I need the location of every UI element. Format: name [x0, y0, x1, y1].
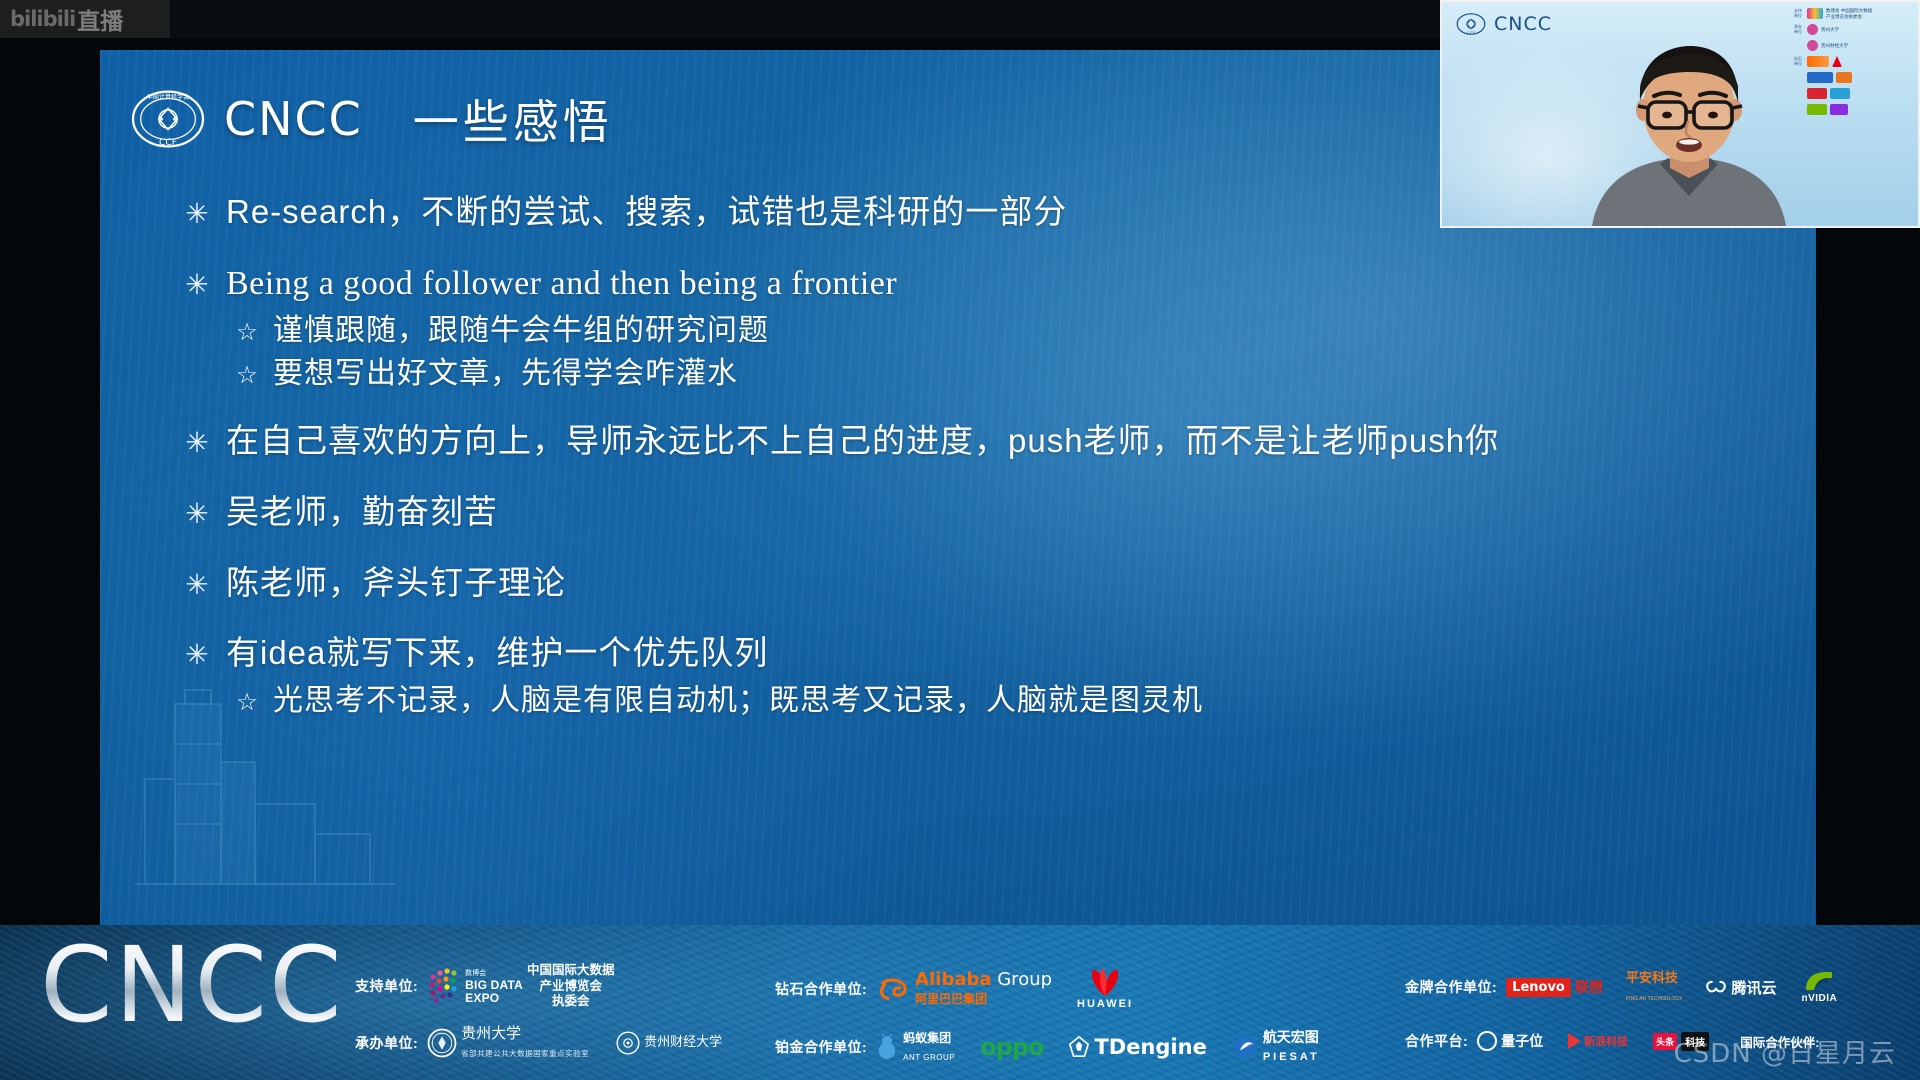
backdrop-sponsor-text: 数博会 中国国际大数据产业博览会执委会	[1826, 8, 1872, 18]
svg-text:中国计算机学会: 中国计算机学会	[147, 93, 190, 101]
sponsor-group-label: 金牌合作单位:	[1405, 977, 1497, 997]
ant-group-logo-icon	[876, 1034, 898, 1060]
nvidia-logo-icon	[1807, 104, 1827, 115]
bullet-item: ✳ 有idea就写下来，维护一个优先队列	[182, 631, 1776, 676]
bilibili-logo: bilibili	[10, 7, 75, 31]
pingan-sub: PING AN TECHNOLOGY	[1626, 996, 1683, 1002]
big-data-expo-cn: 中国国际大数据产业博览会执委会	[527, 963, 615, 1010]
pingan-cn: 平安科技	[1626, 970, 1678, 985]
sub-bullet-text: 谨慎跟随，跟随牛会牛组的研究问题	[273, 311, 769, 350]
bullet-text: Being a good follower and then being a f…	[226, 261, 897, 307]
backdrop-sponsor-row	[1794, 72, 1914, 83]
backdrop-sponsor-row: 承办单位 贵州大学	[1794, 24, 1914, 35]
international-partner-label: 国际合作伙伴:	[1740, 1032, 1819, 1051]
sponsor-group-label: 钻石合作单位:	[775, 979, 867, 999]
svg-text:CCF: CCF	[1467, 30, 1475, 35]
ccf-logo-icon: CCF	[1456, 12, 1486, 36]
sponsor-group-label: 合作平台:	[1405, 1031, 1468, 1051]
red-media-logo: 新浪科技	[1568, 1033, 1628, 1049]
webcam-brand-label: CNCC	[1494, 13, 1552, 35]
star-bullet-icon: ☆	[234, 321, 260, 345]
piesat-en: PIESAT	[1263, 1051, 1320, 1063]
sub-bullet-item: ☆ 谨慎跟随，跟随牛会牛组的研究问题	[234, 311, 1776, 350]
guizhou-university-seal-icon	[1807, 24, 1818, 35]
slide-brand: CNCC	[224, 92, 363, 146]
sponsor-group-label: 承办单位:	[355, 1033, 418, 1053]
toutiao-cn2: 科技	[1681, 1032, 1709, 1051]
big-data-expo-logo-icon	[1807, 8, 1823, 19]
piesat-text: 航天宏图 PIESAT	[1263, 1029, 1320, 1065]
alibaba-logo-icon	[876, 976, 910, 1002]
bilibili-live-label: 直播	[77, 2, 123, 36]
ant-group-en: ANT GROUP	[903, 1053, 955, 1062]
backdrop-sponsor-row: 支持单位 数博会 中国国际大数据产业博览会执委会	[1794, 8, 1914, 19]
guizhou-finance-cn: 贵州财经大学	[644, 1036, 722, 1050]
tencent-cloud-cn: 腾讯云	[1731, 977, 1776, 998]
sponsor-group-platinum: 铂金合作单位: 蚂蚁集团 ANT GROUP oppo	[775, 1029, 1320, 1065]
asterisk-bullet-icon: ✳	[182, 641, 212, 669]
piesat-cn: 航天宏图	[1263, 1029, 1319, 1045]
svg-text:CCF: CCF	[159, 138, 177, 148]
huawei-en: HUAWEI	[1077, 998, 1133, 1010]
oppo-logo-icon	[1836, 72, 1852, 83]
bullet-item: ✳ 吴老师，勤奋刻苦	[182, 490, 1776, 535]
sub-bullet-list: ☆ 光思考不记录，人脑是有限自动机；既思考又记录，人脑就是图灵机	[234, 681, 1776, 720]
ant-group-logo: 蚂蚁集团 ANT GROUP	[876, 1029, 955, 1065]
bullet-block: ✳ 陈老师，斧头钉子理论	[182, 561, 1776, 606]
guizhou-university-sub: 省部共建公共大数据国家重点实验室	[461, 1049, 589, 1058]
guizhou-university-seal-icon	[427, 1028, 457, 1058]
sub-bullet-list: ☆ 谨慎跟随，跟随牛会牛组的研究问题 ☆ 要想写出好文章，先得学会咋灌水	[234, 311, 1776, 393]
alibaba-cn: 阿里巴巴集团	[915, 992, 987, 1006]
alibaba-group-word: Group	[992, 969, 1053, 990]
tdengine-logo-icon	[1807, 72, 1833, 83]
oppo-logo: oppo	[980, 1033, 1043, 1061]
piesat-logo-icon	[1234, 1035, 1258, 1059]
tdengine-logo-icon	[1068, 1036, 1090, 1058]
sponsor-group-label: 支持单位:	[355, 976, 418, 996]
guizhou-finance-seal-icon	[616, 1031, 640, 1055]
alibaba-logo: Alibaba Group 阿里巴巴集团	[876, 969, 1052, 1008]
asterisk-bullet-icon: ✳	[182, 271, 212, 299]
lenovo-en: Lenovo	[1506, 978, 1571, 997]
big-data-expo-icon	[427, 967, 461, 1005]
big-data-expo-text: 数博会 BIG DATA EXPO	[465, 967, 523, 1005]
guizhou-finance-university-logo: 贵州财经大学	[616, 1031, 722, 1055]
pingan-tech-logo: 平安科技 PING AN TECHNOLOGY	[1626, 969, 1683, 1005]
sponsor-group-diamond: 钻石合作单位: Alibaba Group 阿里巴巴集团	[775, 967, 1133, 1010]
sponsor-group-gold: 金牌合作单位: Lenovo 联想 平安科技 PING AN TECHNOLOG…	[1405, 969, 1837, 1005]
page-title: 一些感悟	[413, 86, 613, 152]
sub-bullet-text: 光思考不记录，人脑是有限自动机；既思考又记录，人脑就是图灵机	[273, 681, 1203, 720]
bullet-text: 吴老师，勤奋刻苦	[226, 490, 498, 535]
speaker-video-figure	[1582, 46, 1797, 226]
sponsor-footer-bar: CNCC 支持单位:	[0, 925, 1920, 1080]
backdrop-sponsor-label: 支持单位	[1794, 9, 1804, 18]
tdengine-en: TDengine	[1094, 1035, 1206, 1059]
star-bullet-icon: ☆	[234, 691, 260, 715]
speaker-webcam-overlay[interactable]: CCF CNCC 支持单位 数博会 中国国际大数据产业博览会执委会 承办单位 贵…	[1440, 0, 1920, 228]
star-bullet-icon: ☆	[234, 364, 260, 388]
bullet-text: 有idea就写下来，维护一个优先队列	[226, 631, 768, 676]
lenovo-logo: Lenovo 联想	[1506, 977, 1603, 997]
huawei-logo-icon	[1079, 967, 1131, 997]
ant-group-text: 蚂蚁集团 ANT GROUP	[903, 1029, 955, 1065]
stream-viewport: bilibili 直播	[0, 0, 1920, 1080]
sponsor-group-label: 铂金合作单位:	[775, 1037, 867, 1057]
webcam-backdrop-sponsors: 支持单位 数博会 中国国际大数据产业博览会执委会 承办单位 贵州大学 贵州财经大…	[1794, 8, 1914, 115]
sponsor-groups: 支持单位:	[355, 925, 1920, 1080]
piesat-logo: 航天宏图 PIESAT	[1234, 1029, 1320, 1065]
slide-bullet-list: ✳ Re-search，不断的尝试、搜索，试错也是科研的一部分 ✳ Being …	[182, 190, 1776, 720]
qbitai-cn: 量子位	[1501, 1031, 1543, 1051]
backdrop-sponsor-row	[1794, 104, 1914, 115]
sponsor-group-platform: 合作平台: 量子位 新浪科技 头条 科技 国际合作伙伴:	[1405, 1031, 1819, 1051]
tencent-cloud-logo-icon	[1830, 88, 1850, 99]
bullet-block: ✳ 在自己喜欢的方向上，导师永远比不上自己的进度，push老师，而不是让老师pu…	[182, 419, 1776, 464]
qbitai-logo: 量子位	[1477, 1031, 1543, 1051]
bullet-item: ✳ Being a good follower and then being a…	[182, 261, 1776, 307]
sub-bullet-text: 要想写出好文章，先得学会咋灌水	[273, 354, 738, 393]
asterisk-bullet-icon: ✳	[182, 571, 212, 599]
alibaba-text: Alibaba Group 阿里巴巴集团	[915, 969, 1052, 1008]
bullet-block: ✳ Being a good follower and then being a…	[182, 261, 1776, 394]
cncc-wordmark: CNCC	[40, 931, 344, 1040]
huawei-logo: HUAWEI	[1077, 967, 1133, 1010]
pingan-text: 平安科技 PING AN TECHNOLOGY	[1626, 969, 1683, 1005]
guizhou-finance-seal-icon	[1807, 40, 1818, 51]
nvidia-logo-icon	[1804, 970, 1834, 992]
huawei-logo-icon	[1832, 56, 1842, 67]
bullet-item: ✳ 在自己喜欢的方向上，导师永远比不上自己的进度，push老师，而不是让老师pu…	[182, 419, 1776, 464]
backdrop-sponsor-row	[1794, 88, 1914, 99]
backdrop-sponsor-text: 贵州大学	[1821, 27, 1839, 32]
guizhou-university-logo: 贵州大学 省部共建公共大数据国家重点实验室	[427, 1025, 589, 1061]
ant-group-cn: 蚂蚁集团	[903, 1031, 951, 1045]
bullet-text: Re-search，不断的尝试、搜索，试错也是科研的一部分	[226, 190, 1067, 235]
guizhou-university-text: 贵州大学 省部共建公共大数据国家重点实验室	[461, 1025, 589, 1061]
guizhou-university-cn: 贵州大学	[461, 1024, 521, 1042]
red-media-cn: 新浪科技	[1584, 1033, 1628, 1049]
asterisk-bullet-icon: ✳	[182, 200, 212, 228]
big-data-expo-logo: 数博会 BIG DATA EXPO 中国国际大数据产业博览会执委会	[427, 963, 614, 1010]
lenovo-logo-icon	[1807, 88, 1827, 99]
bullet-item: ✳ 陈老师，斧头钉子理论	[182, 561, 1776, 606]
red-media-icon	[1568, 1033, 1581, 1049]
bullet-text: 陈老师，斧头钉子理论	[226, 561, 566, 606]
tencent-cloud-logo-icon	[1705, 979, 1727, 995]
bde-en2: EXPO	[465, 991, 499, 1005]
sub-bullet-item: ☆ 要想写出好文章，先得学会咋灌水	[234, 354, 1776, 393]
sub-bullet-item: ☆ 光思考不记录，人脑是有限自动机；既思考又记录，人脑就是图灵机	[234, 681, 1776, 720]
ccf-logo-icon: CCF 中国计算机学会	[130, 88, 206, 150]
toutiao-logo: 头条 科技	[1653, 1032, 1709, 1051]
sponsor-group-support: 支持单位:	[355, 963, 615, 1010]
backdrop-sponsor-row: 贵州财经大学	[1794, 40, 1914, 51]
alibaba-logo-icon	[1807, 56, 1829, 67]
webcam-cncc-logo: CCF CNCC	[1456, 12, 1552, 36]
bilibili-watermark: bilibili 直播	[0, 0, 170, 38]
lenovo-cn: 联想	[1575, 977, 1603, 997]
asterisk-bullet-icon: ✳	[182, 429, 212, 457]
backdrop-sponsor-row: 钻石单位	[1794, 56, 1914, 67]
nvidia-en: nVIDIA	[1801, 993, 1837, 1004]
alibaba-en: Alibaba Group	[915, 969, 1052, 990]
bde-cn-top: 数博会	[465, 970, 486, 977]
backdrop-sponsor-label: 承办单位	[1794, 25, 1804, 34]
bullet-block: ✳ 吴老师，勤奋刻苦	[182, 490, 1776, 535]
sponsor-group-organizer: 承办单位: 贵州大学 省部共建公共大数据国家重点实验室	[355, 1025, 722, 1061]
tencent-cloud-logo: 腾讯云	[1705, 977, 1776, 998]
toutiao-cn: 头条	[1653, 1033, 1677, 1050]
building-graphic	[115, 684, 415, 924]
partner-logo-icon	[1830, 104, 1848, 115]
bullet-block: ✳ 有idea就写下来，维护一个优先队列 ☆ 光思考不记录，人脑是有限自动机；既…	[182, 631, 1776, 720]
asterisk-bullet-icon: ✳	[182, 500, 212, 528]
tdengine-logo: TDengine	[1068, 1035, 1206, 1059]
qbitai-ring-icon	[1477, 1031, 1497, 1051]
bullet-text: 在自己喜欢的方向上，导师永远比不上自己的进度，push老师，而不是让老师push…	[226, 419, 1499, 464]
bde-en1: BIG DATA	[465, 978, 523, 992]
backdrop-sponsor-text: 贵州财经大学	[1821, 43, 1848, 48]
nvidia-logo: nVIDIA	[1801, 970, 1837, 1004]
